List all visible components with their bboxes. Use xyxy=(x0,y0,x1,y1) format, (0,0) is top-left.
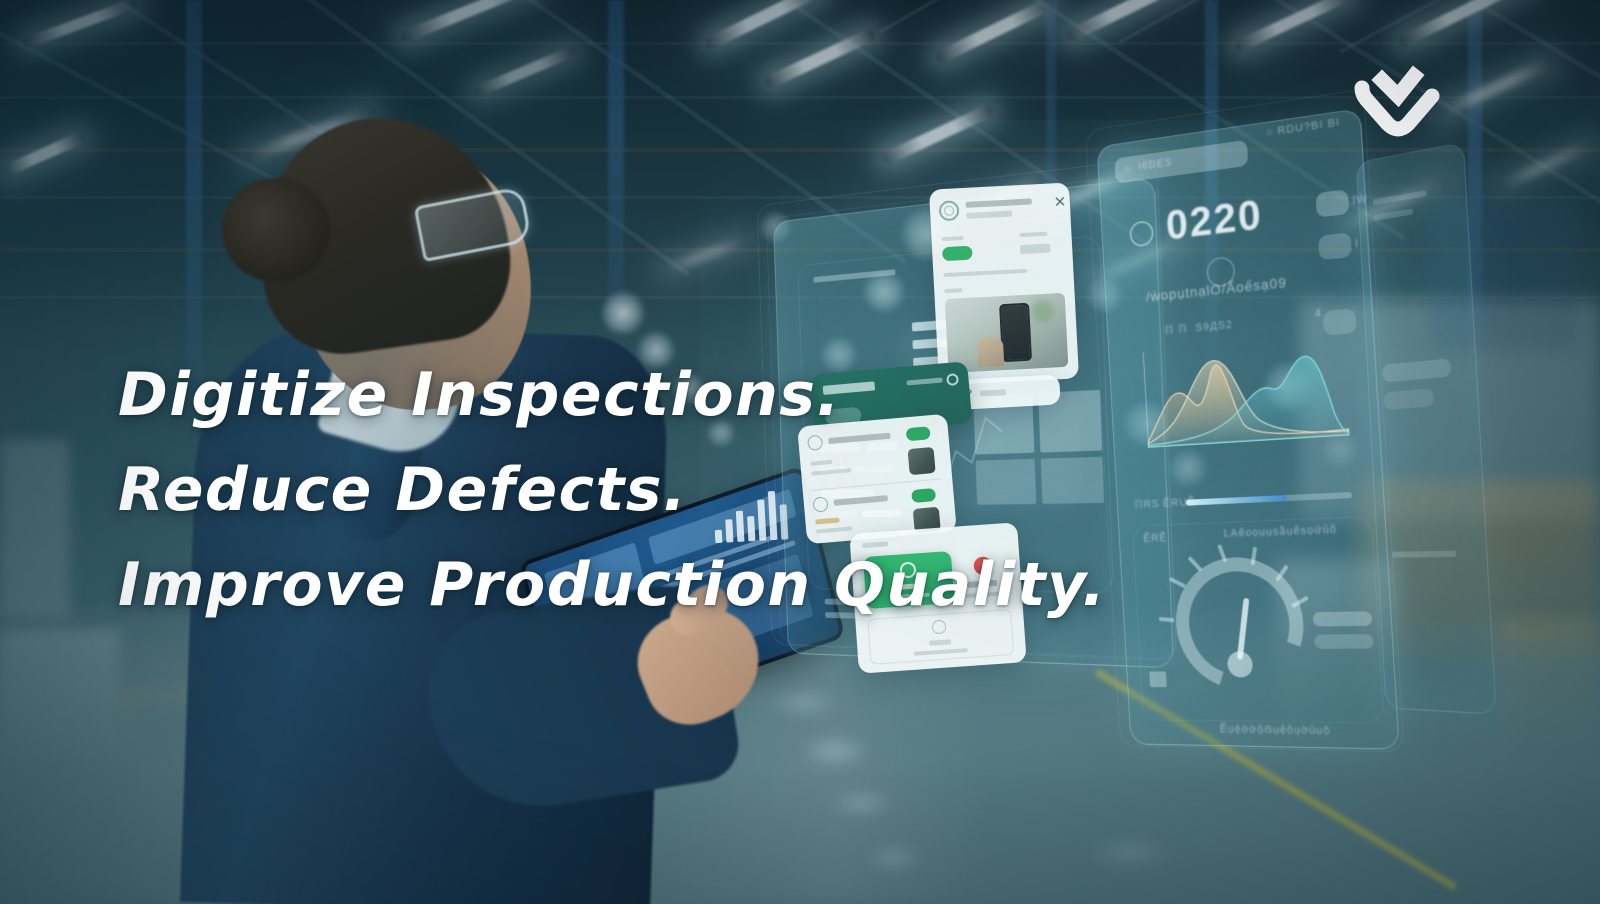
hero-banner: ✕ xyxy=(0,0,1600,904)
hair-bun xyxy=(222,178,330,282)
brand-logo[interactable] xyxy=(1352,64,1444,156)
kpi-value: 0220 xyxy=(1165,190,1264,249)
kpi-icon xyxy=(1129,220,1154,248)
progress-fill xyxy=(1186,495,1287,506)
gauge-footer-label: Ẽụệờờộẞụệộụờủụộ xyxy=(1220,723,1331,737)
close-icon[interactable]: ✕ xyxy=(1053,195,1066,211)
analytics-area-chart: ℿ ℿ S9ДS2 xyxy=(1124,312,1368,469)
status-badge-pass xyxy=(942,246,973,262)
analytics-breadcrumb: ○ RDU?BI BI xyxy=(1266,116,1341,139)
analytics-panel[interactable]: ○ I6DES ○ RDU?BI BI 0220 lẀ l 4 /ẁopụtnạ… xyxy=(1097,108,1400,750)
double-chevron-down-check-logo xyxy=(1352,64,1444,156)
headline-line-2: Reduce Defects. xyxy=(118,443,1106,538)
headline-line-3: Improve Production Quality. xyxy=(118,538,1106,633)
hero-headline: Digitize Inspections. Reduce Defects. Im… xyxy=(118,348,1106,633)
headline-line-1: Digitize Inspections. xyxy=(118,348,1106,443)
